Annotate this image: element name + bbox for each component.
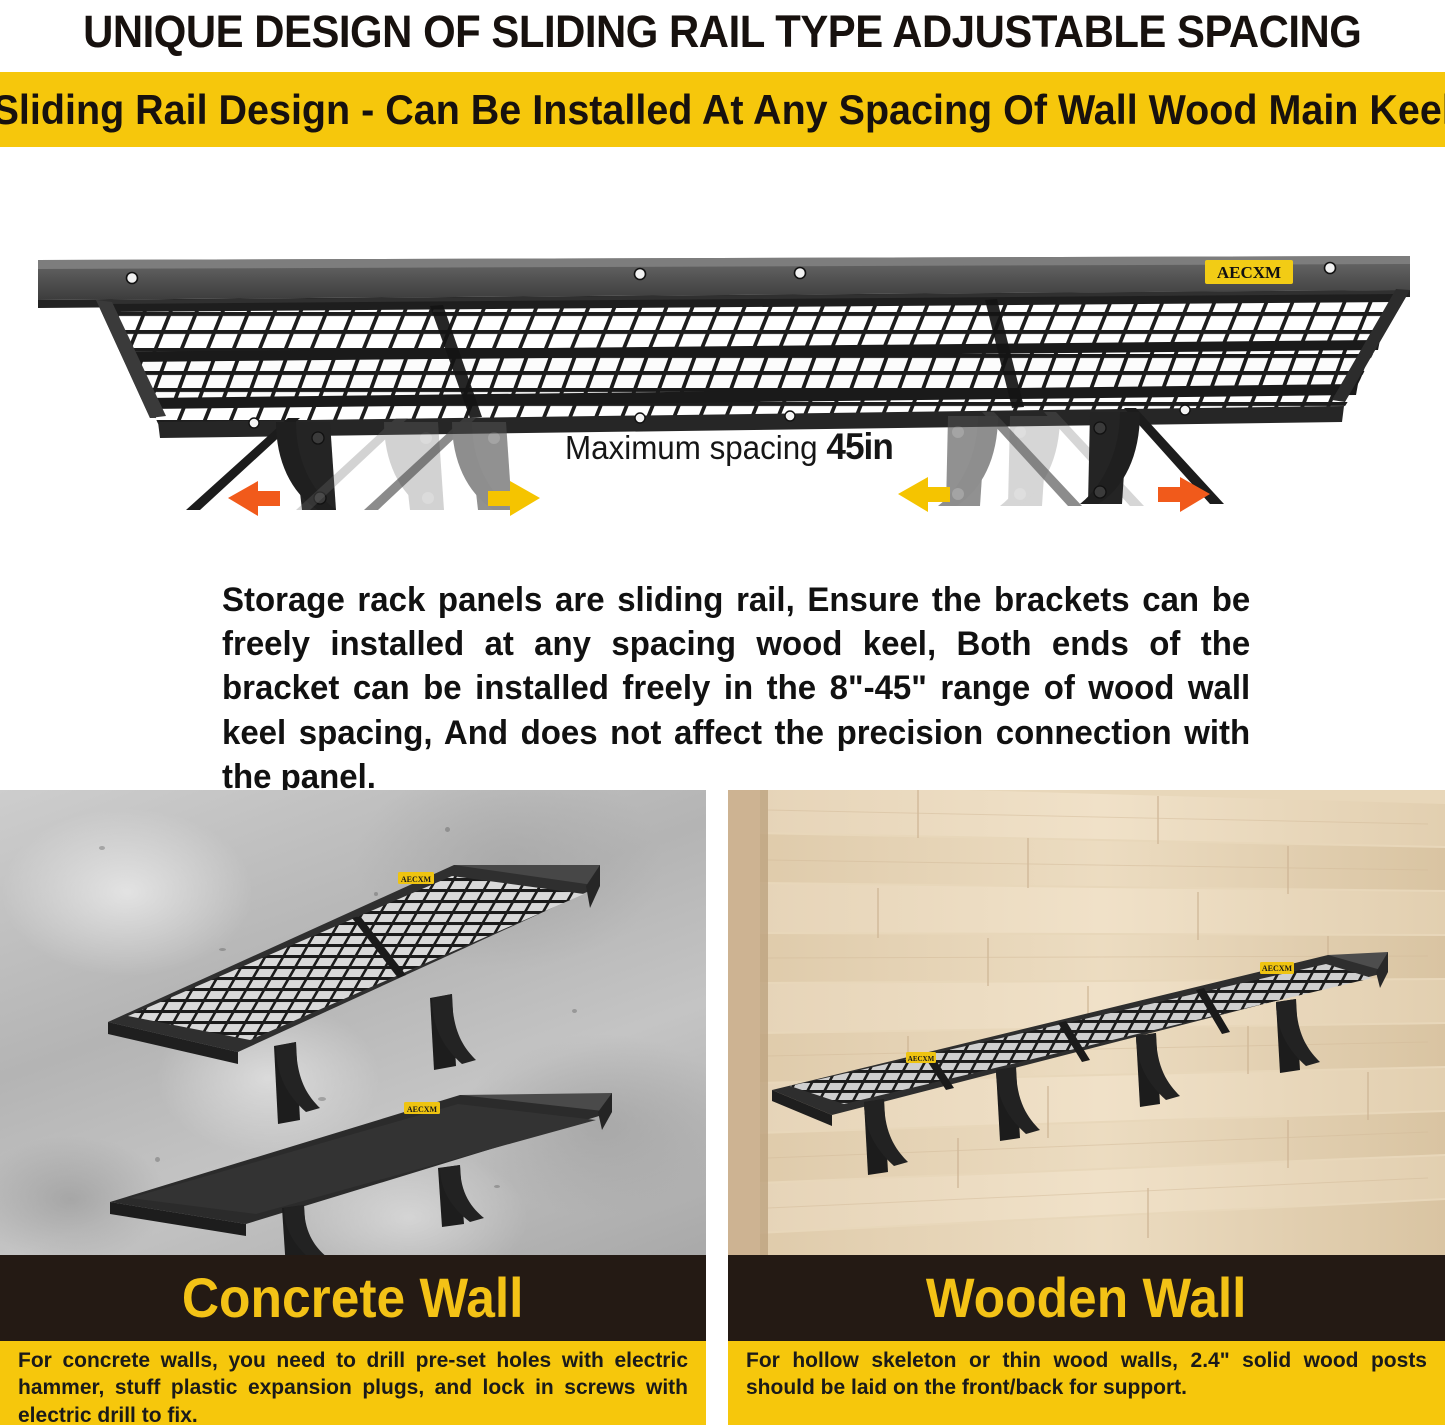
subtitle-text: Sliding Rail Design - Can Be Installed A… [0, 89, 1445, 131]
concrete-shelves-graphic: AECXM AECXM [0, 790, 706, 1255]
brand-badge-hero: AECXM [1205, 260, 1293, 284]
wooden-caption-body: For hollow skeleton or thin wood walls, … [746, 1347, 1427, 1402]
wood-plank-wall-graphic: AECXM AECXM [728, 790, 1445, 1255]
concrete-wall-photo: AECXM AECXM [0, 790, 706, 1255]
spacing-prefix: Maximum spacing [565, 429, 826, 466]
svg-text:AECXM: AECXM [908, 1055, 935, 1063]
concrete-caption-body: For concrete walls, you need to drill pr… [18, 1347, 688, 1425]
page-title: UNIQUE DESIGN OF SLIDING RAIL TYPE ADJUS… [83, 9, 1361, 54]
hero-diagram: AECXM [0, 150, 1445, 560]
svg-text:AECXM: AECXM [1217, 263, 1281, 282]
panel-wooden: AECXM AECXM Wooden Wall For hollow skele… [728, 790, 1445, 1425]
subtitle-banner: Sliding Rail Design - Can Be Installed A… [0, 72, 1445, 147]
page-title-bar: UNIQUE DESIGN OF SLIDING RAIL TYPE ADJUS… [0, 0, 1445, 62]
concrete-caption-title-bar: Concrete Wall [0, 1255, 706, 1341]
svg-text:AECXM: AECXM [401, 875, 432, 884]
svg-text:AECXM: AECXM [1262, 964, 1293, 973]
concrete-caption-body-bar: For concrete walls, you need to drill pr… [0, 1341, 706, 1425]
wooden-caption-body-bar: For hollow skeleton or thin wood walls, … [728, 1341, 1445, 1425]
description-paragraph: Storage rack panels are sliding rail, En… [222, 578, 1250, 799]
svg-text:AECXM: AECXM [407, 1105, 438, 1114]
shelf-deck [96, 289, 1410, 438]
wooden-caption-title-bar: Wooden Wall [728, 1255, 1445, 1341]
concrete-caption-title: Concrete Wall [182, 1270, 524, 1326]
shelf-upper: AECXM [108, 865, 600, 1124]
arrow-right-inner-icon [898, 477, 950, 512]
maximum-spacing-label: Maximum spacing 45in [565, 428, 888, 465]
wooden-wall-photo: AECXM AECXM [728, 790, 1445, 1255]
spacing-value: 45in [826, 426, 893, 467]
arrow-left-outer-icon [228, 481, 280, 516]
shelf-illustration: AECXM [0, 150, 1445, 560]
shelf-lower: AECXM [110, 1093, 612, 1255]
wooden-caption-title: Wooden Wall [926, 1270, 1247, 1326]
panel-concrete: AECXM AECXM Concrete Wall For concrete [0, 790, 706, 1425]
